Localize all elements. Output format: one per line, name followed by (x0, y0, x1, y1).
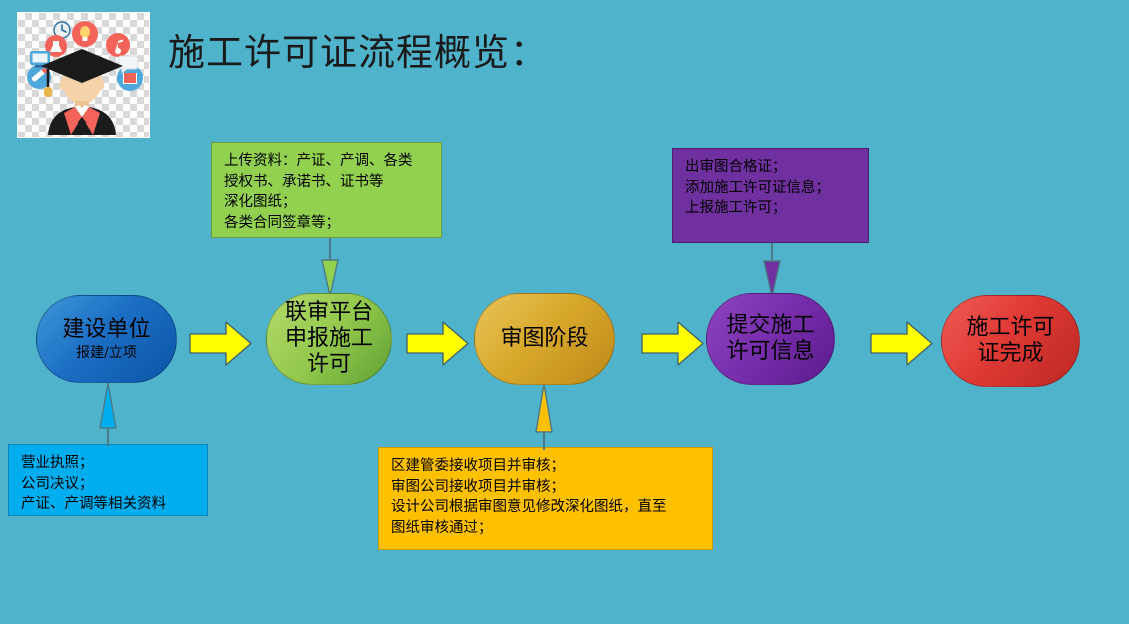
node-construction-unit[interactable]: 建设单位 报建/立项 (36, 295, 177, 383)
node-joint-review-platform[interactable]: 联审平台 申报施工 许可 (266, 293, 392, 385)
arrow-platform-to-drawing (406, 320, 469, 367)
arrow-submit-to-done (870, 320, 933, 367)
node-subtitle: 报建/立项 (76, 345, 137, 362)
arrow-unit-to-platform (189, 320, 252, 367)
node-title: 提交施工 许可信息 (726, 313, 814, 365)
note-review-certificate: 出审图合格证； 添加施工许可证信息； 上报施工许可； (672, 148, 869, 243)
flowchart-canvas: 施工许可证流程概览： 上传资料：产证、产调、各类 授权书、承诺书、证书等 深化图… (0, 0, 1129, 624)
graduate-illustration (18, 13, 147, 135)
node-submit-permit-info[interactable]: 提交施工 许可信息 (706, 293, 835, 385)
node-title: 施工许可 证完成 (966, 315, 1054, 367)
connector-audit-to-drawing (519, 384, 569, 450)
note-audit-process: 区建管委接收项目并审核； 审图公司接收项目并审核； 设计公司根据审图意见修改深化… (378, 447, 713, 550)
connector-upload-to-platform (303, 238, 357, 296)
node-title: 联审平台 申报施工 许可 (285, 300, 373, 378)
node-permit-complete[interactable]: 施工许可 证完成 (941, 295, 1080, 387)
node-title: 建设单位 (62, 317, 150, 343)
note-upload-materials: 上传资料：产证、产调、各类 授权书、承诺书、证书等 深化图纸； 各类合同签章等； (211, 142, 442, 238)
graduate-student-icon (17, 12, 150, 138)
connector-license-to-unit (83, 383, 133, 446)
node-title: 审图阶段 (500, 326, 588, 352)
note-business-license: 营业执照； 公司决议； 产证、产调等相关资料 (8, 444, 208, 516)
node-drawing-review-stage[interactable]: 审图阶段 (474, 293, 615, 385)
arrow-drawing-to-submit (641, 320, 704, 367)
page-title: 施工许可证流程概览： (168, 22, 548, 76)
connector-review-to-submit (745, 243, 799, 297)
